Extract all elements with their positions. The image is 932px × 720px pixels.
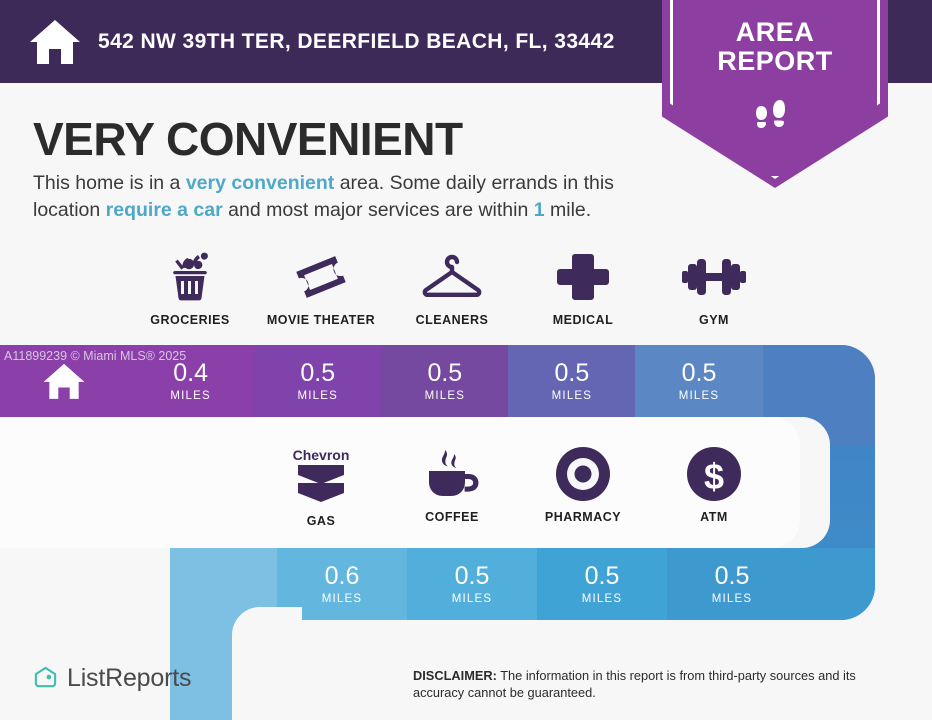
distance-cleaners: 0.5 MILES — [381, 345, 508, 417]
listreports-mark-icon — [33, 666, 58, 691]
summary-highlight-1: very convenient — [186, 172, 334, 194]
amenity-gym: GYM — [649, 248, 779, 327]
coffee-cup-icon — [423, 445, 481, 503]
summary-part-1: This home is in a — [33, 172, 186, 194]
distance-value: 0.5 — [585, 564, 620, 589]
distance-value: 0.6 — [325, 564, 360, 589]
amenity-groceries: GROCERIES — [125, 248, 255, 327]
amenity-icons-row-2: Chevron GAS COFFEE — [0, 445, 932, 540]
amenity-label: GROCERIES — [150, 313, 230, 327]
amenity-label: CLEANERS — [416, 313, 489, 327]
movie-ticket-icon — [291, 248, 351, 306]
distance-value: 0.5 — [555, 361, 590, 386]
page-title: VERY CONVENIENT — [33, 112, 463, 166]
amenity-label: GYM — [699, 313, 729, 327]
distance-unit: MILES — [322, 593, 363, 605]
distance-value: 0.4 — [173, 361, 208, 386]
distance-medical: 0.5 MILES — [508, 345, 635, 417]
amenity-pharmacy: PHARMACY — [518, 445, 648, 524]
distance-pharmacy: 0.5 MILES — [537, 548, 667, 620]
distance-unit: MILES — [679, 390, 720, 402]
listreports-logo[interactable]: ListReports — [33, 664, 191, 693]
distance-unit: MILES — [712, 593, 753, 605]
footprints-icon — [749, 92, 801, 144]
svg-text:$: $ — [704, 456, 724, 497]
distance-movie-theater: 0.5 MILES — [254, 345, 381, 417]
summary-text: This home is in a very convenient area. … — [33, 170, 663, 224]
ribbon-tail-top — [763, 345, 875, 417]
grocery-basket-icon — [161, 248, 219, 306]
pharmacy-target-icon — [554, 445, 612, 503]
distance-atm: 0.5 MILES — [667, 548, 797, 620]
amenity-gas: Chevron GAS — [256, 445, 386, 528]
area-report-page: 542 NW 39TH TER, DEERFIELD BEACH, FL, 33… — [0, 0, 932, 720]
distance-value: 0.5 — [682, 361, 717, 386]
distance-value: 0.5 — [715, 564, 750, 589]
summary-part-3: and most major services are within — [223, 199, 534, 221]
mls-watermark: A11899239 © Miami MLS® 2025 — [4, 349, 186, 363]
house-icon — [42, 361, 86, 401]
distance-unit: MILES — [582, 593, 623, 605]
listreports-wordmark: ListReports — [67, 664, 191, 693]
distance-unit: MILES — [170, 390, 211, 402]
footer-bar: ListReports DISCLAIMER: The information … — [0, 655, 932, 720]
distance-unit: MILES — [297, 390, 338, 402]
area-report-badge: AREA REPORT — [662, 0, 888, 188]
distance-value: 0.5 — [455, 564, 490, 589]
house-icon — [28, 18, 82, 66]
amenity-label: PHARMACY — [545, 510, 621, 524]
amenity-label: GAS — [307, 514, 336, 528]
summary-highlight-3: 1 — [534, 199, 545, 221]
dumbbell-icon — [682, 248, 746, 306]
disclaimer-label: DISCLAIMER: — [413, 668, 497, 683]
property-address: 542 NW 39TH TER, DEERFIELD BEACH, FL, 33… — [98, 30, 615, 54]
distance-gym: 0.5 MILES — [635, 345, 762, 417]
chevron-gas-icon: Chevron — [290, 445, 352, 507]
summary-part-4: mile. — [545, 199, 592, 221]
amenity-medical: MEDICAL — [518, 248, 648, 327]
clothes-hanger-icon — [419, 248, 485, 306]
distance-value: 0.5 — [300, 361, 335, 386]
badge-line-2: REPORT — [662, 47, 888, 76]
amenity-atm: $ ATM — [649, 445, 779, 524]
distance-unit: MILES — [425, 390, 466, 402]
distance-unit: MILES — [452, 593, 493, 605]
ribbon-end — [797, 548, 875, 620]
amenity-label: ATM — [700, 510, 728, 524]
distance-value: 0.5 — [427, 361, 462, 386]
summary-highlight-2: require a car — [106, 199, 223, 221]
distance-unit: MILES — [552, 390, 593, 402]
gas-brand-text: Chevron — [293, 447, 350, 463]
amenity-cleaners: CLEANERS — [387, 248, 517, 327]
amenity-icons-row-1: GROCERIES MOVIE THEATER — [0, 248, 932, 338]
amenity-label: MOVIE THEATER — [267, 313, 375, 327]
disclaimer-text: DISCLAIMER: The information in this repo… — [413, 667, 888, 702]
badge-line-1: AREA — [662, 18, 888, 47]
amenity-movie-theater: MOVIE THEATER — [256, 248, 386, 327]
dollar-circle-icon: $ — [685, 445, 743, 503]
amenity-label: MEDICAL — [553, 313, 613, 327]
badge-title: AREA REPORT — [662, 18, 888, 76]
distance-coffee: 0.5 MILES — [407, 548, 537, 620]
amenity-label: COFFEE — [425, 510, 479, 524]
medical-cross-icon — [557, 248, 609, 306]
amenity-coffee: COFFEE — [387, 445, 517, 524]
